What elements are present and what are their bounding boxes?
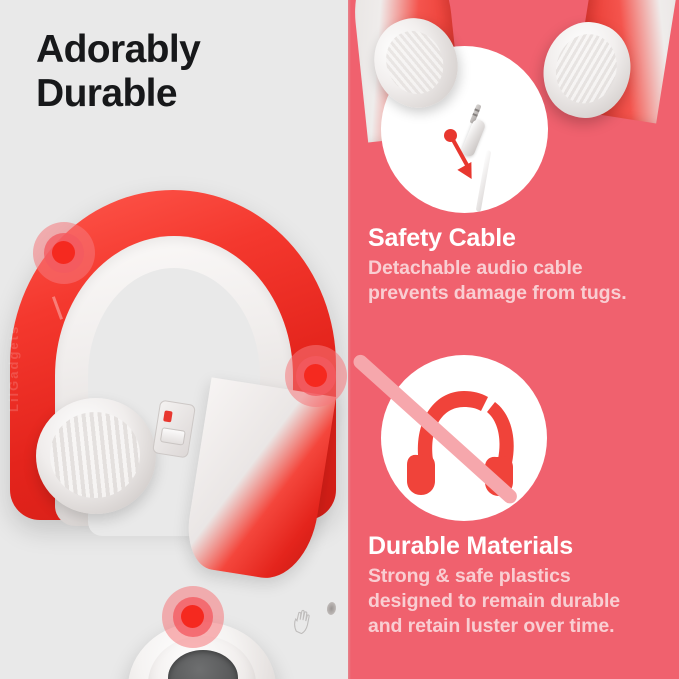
hotspot-ring-mid: [44, 233, 84, 273]
hotspot-ring-core: [181, 605, 204, 628]
feature-body-line-1: Detachable audio cable: [368, 256, 668, 281]
headline-line-2: Durable: [36, 72, 326, 116]
hand-emboss-icon: [290, 607, 314, 636]
arm-pivot-hole: [326, 601, 337, 615]
product-infographic: Adorably Durable LilGadgets: [0, 0, 679, 679]
slider-adjuster-hotspot[interactable]: [285, 345, 347, 407]
earcup-rear: [36, 398, 156, 514]
feature-body: Detachable audio cable prevents damage f…: [368, 256, 668, 306]
brand-emboss-text: LilGadgets: [6, 282, 26, 412]
broken-headphones-glyph: [381, 355, 547, 521]
feature-body: Strong & safe plastics designed to remai…: [368, 564, 668, 639]
hotspot-ring-core: [304, 364, 327, 387]
headband-hotspot[interactable]: [33, 222, 95, 284]
feature-body-line-2: designed to remain durable: [368, 589, 668, 614]
cable-port-hotspot[interactable]: [162, 586, 224, 648]
hotspot-ring-mid: [296, 356, 336, 396]
feature-body-line-2: prevents damage from tugs.: [368, 281, 668, 306]
page-title: Adorably Durable: [36, 28, 326, 116]
no-broken-headphones-icon: [381, 355, 547, 521]
feature-title: Durable Materials: [368, 532, 668, 561]
hotspot-ring-core: [52, 241, 75, 264]
headphone-left-cup-overlay: [348, 0, 679, 230]
feature-body-line-1: Strong & safe plastics: [368, 564, 668, 589]
headphone-left-cup: [361, 6, 471, 120]
hotspot-ring-mid: [173, 597, 213, 637]
feature-body-line-3: and retain luster over time.: [368, 614, 668, 639]
feature-safety-cable: Safety Cable Detachable audio cable prev…: [368, 224, 668, 306]
feature-durable-materials: Durable Materials Strong & safe plastics…: [368, 532, 668, 639]
headline-line-1: Adorably: [36, 28, 200, 71]
left-panel: Adorably Durable LilGadgets: [0, 0, 348, 679]
